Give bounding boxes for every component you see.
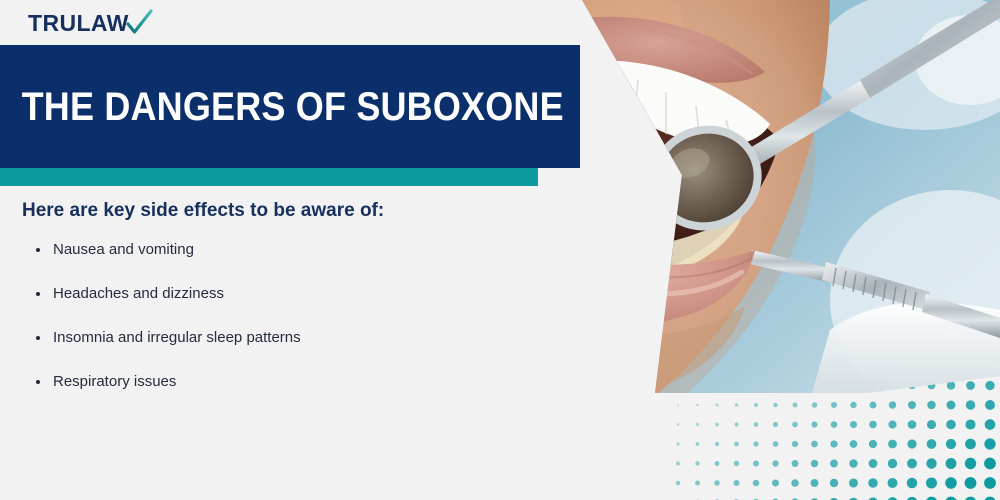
logo-wordmark: TRULAW [28,12,129,35]
list-item: Respiratory issues [33,373,540,391]
dental-exam-photo [530,0,1000,400]
list-item: Headaches and dizziness [33,285,540,303]
side-effects-list: Nausea and vomiting Headaches and dizzin… [0,241,540,391]
trulaw-logo[interactable]: TRULAW [28,8,154,38]
infographic-canvas: TRULAW THE DANGERS OF SUBOXONE Here are … [0,0,1000,500]
section-subheading: Here are key side effects to be aware of… [0,200,540,223]
checkmark-icon [126,9,154,37]
list-item: Insomnia and irregular sleep patterns [33,329,540,347]
content-section: Here are key side effects to be aware of… [0,200,540,417]
teal-accent-bar [0,168,538,186]
page-title: THE DANGERS OF SUBOXONE [0,87,564,127]
title-banner: THE DANGERS OF SUBOXONE [0,45,580,168]
list-item: Nausea and vomiting [33,241,540,259]
